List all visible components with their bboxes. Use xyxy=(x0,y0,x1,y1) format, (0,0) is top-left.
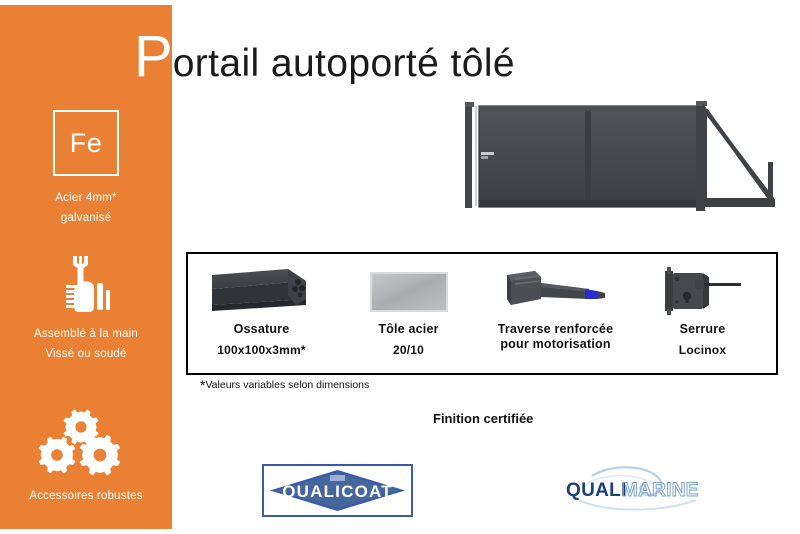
steel-tube-profile-icon xyxy=(210,262,314,320)
lock-icon xyxy=(653,262,753,320)
fe-element-box-icon: Fe xyxy=(53,110,119,176)
footnote: *Valeurs variables selon dimensions xyxy=(200,379,369,395)
qualicoat-logo: QUALICOAT xyxy=(262,464,413,517)
feature-item-tole-acier-name: Tôle acier xyxy=(378,322,438,337)
feature-item-traverse: Traverse renforcée pour motorisation xyxy=(482,254,629,373)
qualimarine-logo: QUALI MARINE xyxy=(556,464,716,516)
svg-text:QUALICOAT: QUALICOAT xyxy=(282,482,393,501)
wrench-hand-tools-icon xyxy=(0,252,172,314)
feature-item-ossature-spec: 100x100x3mm* xyxy=(217,343,305,358)
feature-item-serrure-spec: Locinox xyxy=(679,343,726,358)
svg-text:MARINE: MARINE xyxy=(622,480,699,501)
feature-item-tole-acier-spec: 20/10 xyxy=(393,343,424,358)
sidebar-feature-assembly-line2: Vissé ou soudé xyxy=(0,344,172,364)
sidebar-feature-accessories-line1: Accessoires robustes xyxy=(0,486,172,506)
steel-sheet-icon xyxy=(367,262,451,320)
sidebar-feature-steel-line1: Acier 4mm* xyxy=(0,188,172,208)
sidebar-feature-assembly: Assemblé à la main Vissé ou soudé xyxy=(0,252,172,364)
footnote-text: Valeurs variables selon dimensions xyxy=(205,379,369,391)
features-panel: Ossature 100x100x3mm* Tôl xyxy=(186,252,778,375)
reinforced-crossbar-icon xyxy=(497,262,615,320)
page-title: P ortail autoporté tôlé xyxy=(134,28,515,84)
svg-text:QUALI: QUALI xyxy=(566,480,627,501)
sliding-gate-illustration xyxy=(455,92,785,218)
slide-canvas: Fe Acier 4mm* galvanisé xyxy=(0,0,800,534)
feature-item-tole-acier: Tôle acier 20/10 xyxy=(335,254,482,373)
feature-item-ossature-name: Ossature xyxy=(234,322,290,337)
feature-item-ossature: Ossature 100x100x3mm* xyxy=(188,254,335,373)
sidebar-feature-steel: Fe Acier 4mm* galvanisé xyxy=(0,110,172,228)
sidebar-feature-assembly-line1: Assemblé à la main xyxy=(0,324,172,344)
footnote-star: * xyxy=(200,377,205,393)
feature-item-serrure-name: Serrure xyxy=(680,322,726,337)
fe-badge-text: Fe xyxy=(70,130,103,157)
feature-item-traverse-name-line1: Traverse renforcée xyxy=(498,322,613,337)
page-title-initial: P xyxy=(134,28,173,86)
feature-item-serrure: Serrure Locinox xyxy=(629,254,776,373)
sidebar-feature-steel-line2: galvanisé xyxy=(0,208,172,228)
sidebar-feature-accessories: Accessoires robustes xyxy=(0,408,172,506)
page-title-rest: ortail autoporté tôlé xyxy=(173,44,515,83)
certification-label: Finition certifiée xyxy=(433,411,533,426)
gears-icon xyxy=(0,408,172,476)
feature-item-traverse-name-line2: pour motorisation xyxy=(500,337,610,352)
